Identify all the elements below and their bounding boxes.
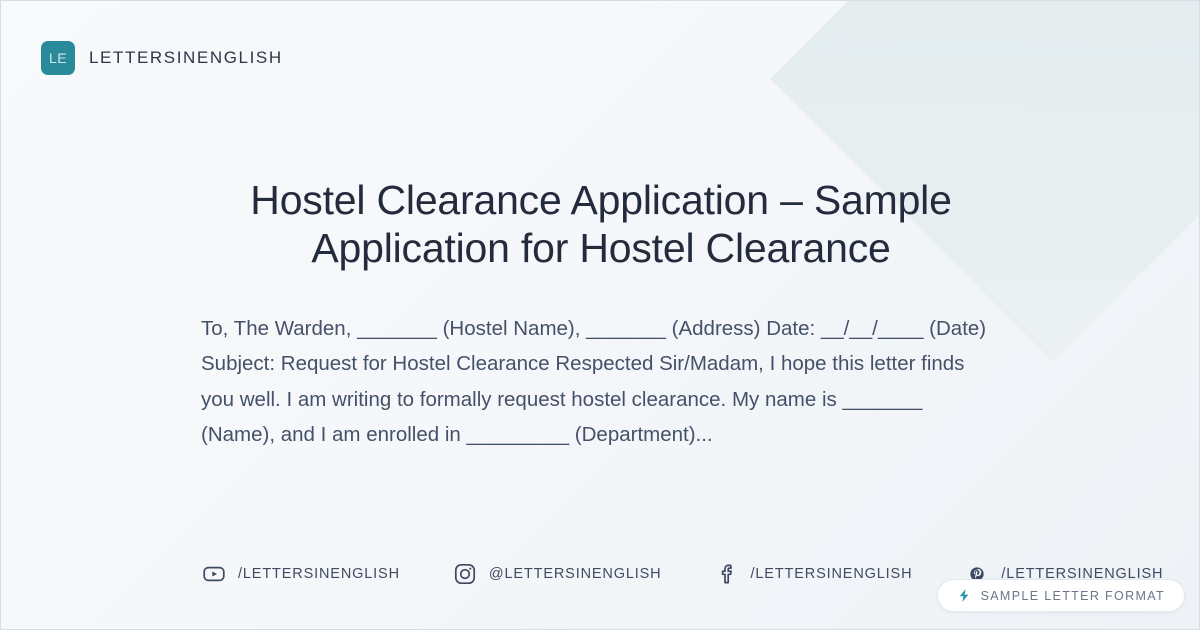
article-excerpt: To, The Warden, _______ (Hostel Name), _… (201, 311, 1001, 453)
badge-label: SAMPLE LETTER FORMAT (981, 589, 1165, 603)
facebook-icon (714, 561, 740, 587)
instagram-icon (452, 561, 478, 587)
status-badge: SAMPLE LETTER FORMAT (937, 579, 1185, 612)
lightning-bolt-icon (957, 588, 972, 603)
content-block: Hostel Clearance Application – Sample Ap… (201, 176, 1001, 453)
logo-mark: LE (41, 41, 75, 75)
social-link-instagram[interactable]: @LETTERSINENGLISH (452, 561, 662, 587)
social-share-card: LE LETTERSINENGLISH Hostel Clearance App… (0, 0, 1200, 630)
social-link-facebook[interactable]: /LETTERSINENGLISH (714, 561, 913, 587)
social-label: /LETTERSINENGLISH (751, 566, 913, 582)
social-label: @LETTERSINENGLISH (489, 566, 662, 582)
brand-name: LETTERSINENGLISH (89, 48, 283, 68)
brand-logo[interactable]: LE LETTERSINENGLISH (41, 41, 283, 75)
social-link-youtube[interactable]: /LETTERSINENGLISH (201, 561, 400, 587)
youtube-icon (201, 561, 227, 587)
page-title: Hostel Clearance Application – Sample Ap… (201, 176, 1001, 273)
social-label: /LETTERSINENGLISH (238, 566, 400, 582)
